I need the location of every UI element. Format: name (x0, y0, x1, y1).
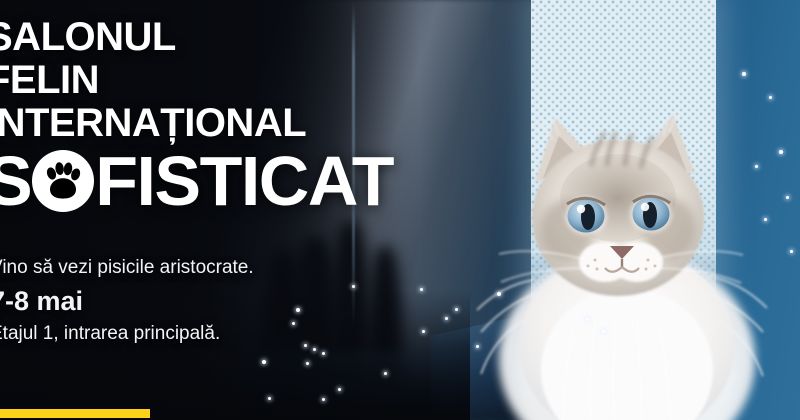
sparkle (338, 388, 341, 391)
sparkle (384, 372, 387, 375)
sparkle (262, 360, 266, 364)
sparkle (322, 398, 325, 401)
sparkle (306, 362, 309, 365)
sparkle (755, 165, 758, 168)
headline-line-3: INTERNAȚIONAL (0, 104, 456, 143)
sparkle (268, 397, 271, 400)
sparkle (742, 72, 746, 76)
sparkle (455, 308, 458, 311)
tagline-text: Vino să vezi pisicile aristocrate. (0, 258, 410, 278)
sparkle (420, 288, 423, 291)
sparkle (764, 218, 767, 221)
event-banner: SALONUL FELIN INTERNAȚIONAL S FISTICAT V… (0, 0, 800, 420)
sparkle (304, 344, 307, 347)
sparkle (786, 196, 789, 199)
headline-block: SALONUL FELIN INTERNAȚIONAL S FISTICAT (0, 18, 456, 216)
event-date: 7-8 mai (0, 287, 410, 315)
sparkle (476, 345, 479, 348)
wordmark-suffix: FISTICAT (95, 146, 393, 216)
event-location: Etajul 1, intrarea principală. (0, 324, 410, 344)
sparkle (445, 317, 448, 320)
sparkle (779, 150, 783, 154)
sparkle (769, 96, 772, 99)
wordmark-prefix: S (0, 146, 31, 216)
sparkle (790, 250, 793, 253)
sparkle (322, 352, 325, 355)
subcopy-block: Vino să vezi pisicile aristocrate. 7-8 m… (0, 258, 410, 344)
headline-line-2: FELIN (0, 61, 456, 100)
sparkle (497, 292, 501, 296)
sparkle (313, 348, 316, 351)
sparkle (586, 318, 589, 321)
headline-line-1: SALONUL (0, 18, 456, 57)
cat-photo (455, 70, 800, 420)
accent-bar (0, 409, 150, 418)
sparkle (422, 330, 425, 333)
paw-print-icon (32, 150, 94, 212)
headline-wordmark: S FISTICAT (0, 146, 456, 216)
sparkle (602, 330, 605, 333)
